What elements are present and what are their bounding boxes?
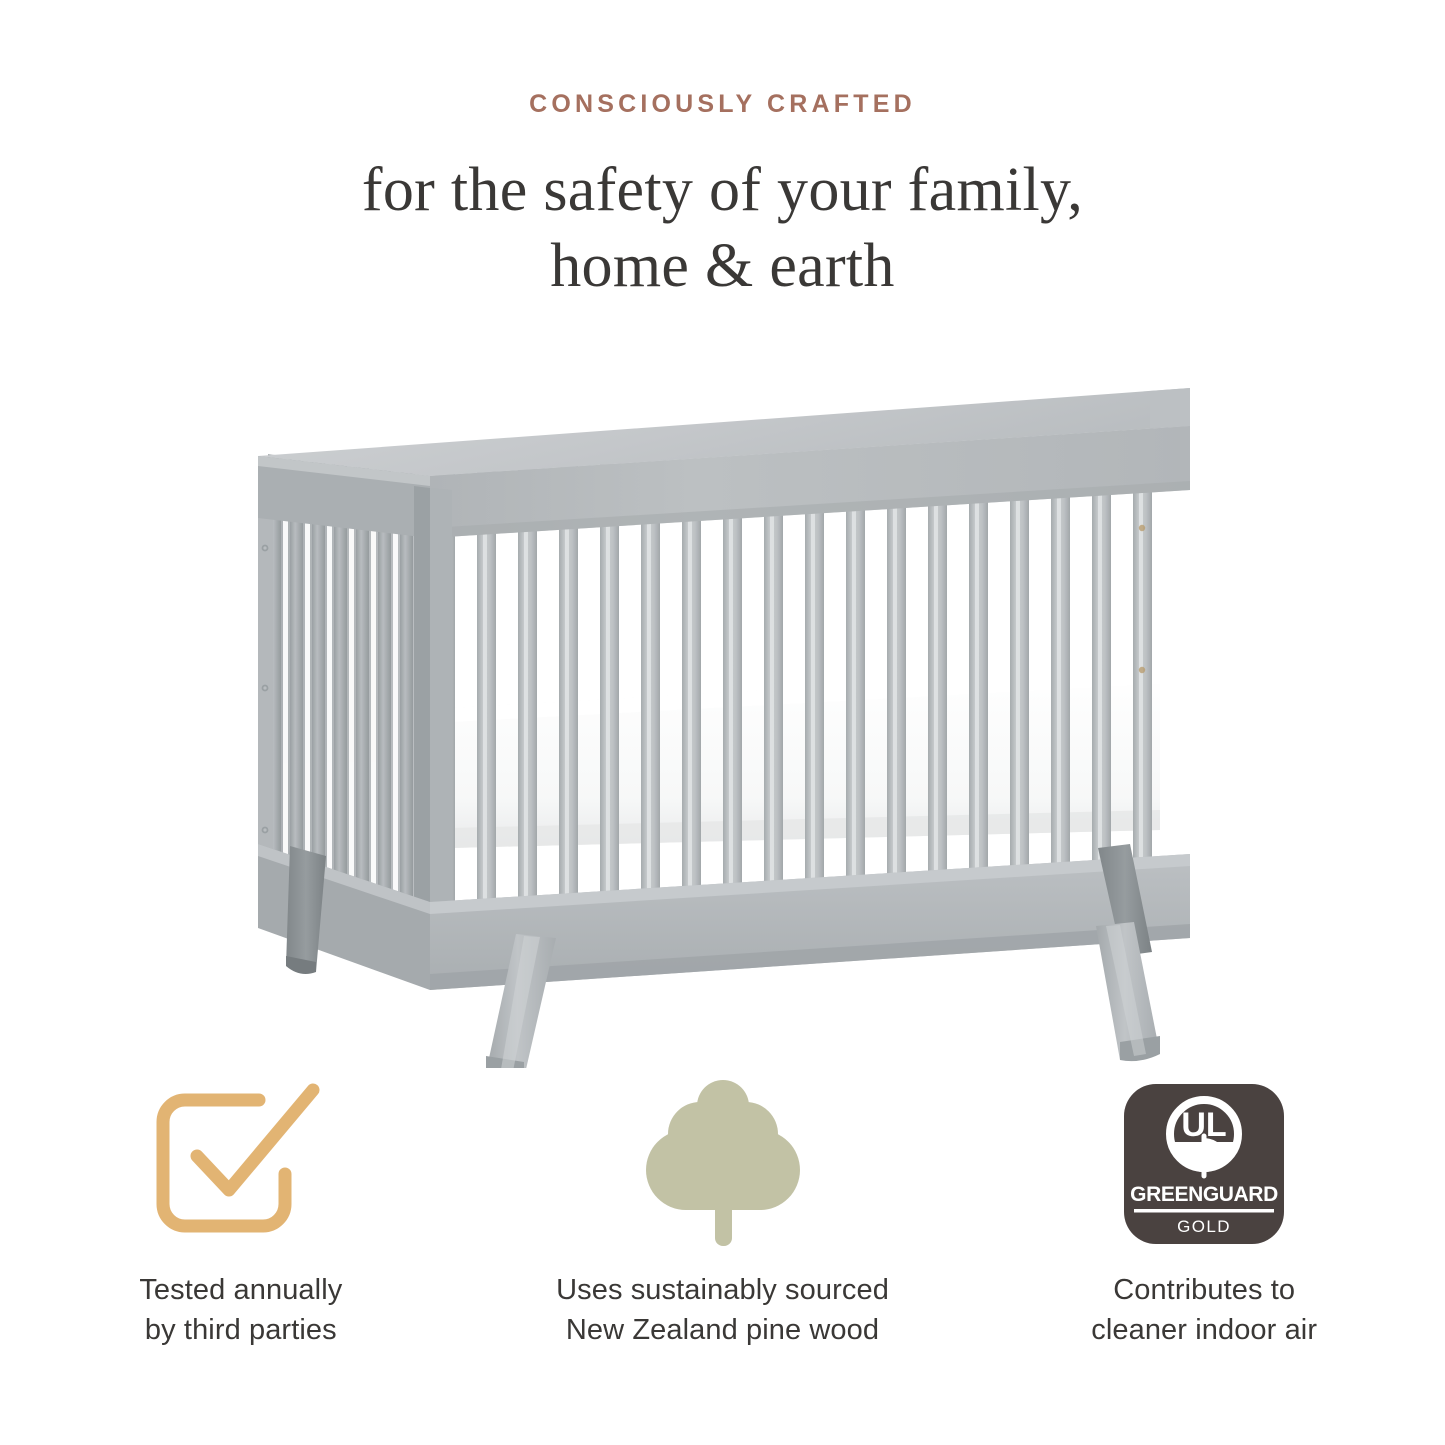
crib-illustration	[0, 378, 1445, 1068]
feature-cleaner-air: UL GREENGUARD GOLD Contributes to cleane…	[963, 1078, 1445, 1350]
feature-list: Tested annually by third parties	[0, 1078, 1445, 1350]
headline-line-1: for the safety of your family,	[0, 153, 1445, 229]
page-title: for the safety of your family, home & ea…	[0, 153, 1445, 304]
feature-caption: Tested annually by third parties	[139, 1270, 342, 1350]
feature-tested-annually: Tested annually by third parties	[0, 1078, 482, 1350]
feature-caption-line-1: Uses sustainably sourced	[556, 1270, 889, 1310]
feature-caption-line-2: cleaner indoor air	[1091, 1310, 1317, 1350]
feature-caption-line-1: Tested annually	[139, 1270, 342, 1310]
greenguard-gold-badge-icon: UL GREENGUARD GOLD	[1120, 1078, 1288, 1250]
checkbox-check-icon	[141, 1078, 341, 1250]
feature-caption-line-1: Contributes to	[1091, 1270, 1317, 1310]
greenguard-title: GREENGUARD	[1130, 1183, 1278, 1206]
crib-top-rail	[258, 388, 1190, 538]
greenguard-tier: GOLD	[1177, 1217, 1231, 1236]
product-image	[0, 378, 1445, 1068]
eyebrow-label: CONSCIOUSLY CRAFTED	[0, 92, 1445, 117]
crib-corner-post	[414, 486, 452, 958]
header: CONSCIOUSLY CRAFTED for the safety of yo…	[0, 0, 1445, 304]
feature-caption: Uses sustainably sourced New Zealand pin…	[556, 1270, 889, 1350]
feature-caption: Contributes to cleaner indoor air	[1091, 1270, 1317, 1350]
headline-line-2: home & earth	[0, 229, 1445, 305]
feature-caption-line-2: by third parties	[139, 1310, 342, 1350]
tree-icon	[638, 1078, 808, 1250]
feature-caption-line-2: New Zealand pine wood	[556, 1310, 889, 1350]
feature-sustainable-wood: Uses sustainably sourced New Zealand pin…	[482, 1078, 964, 1350]
